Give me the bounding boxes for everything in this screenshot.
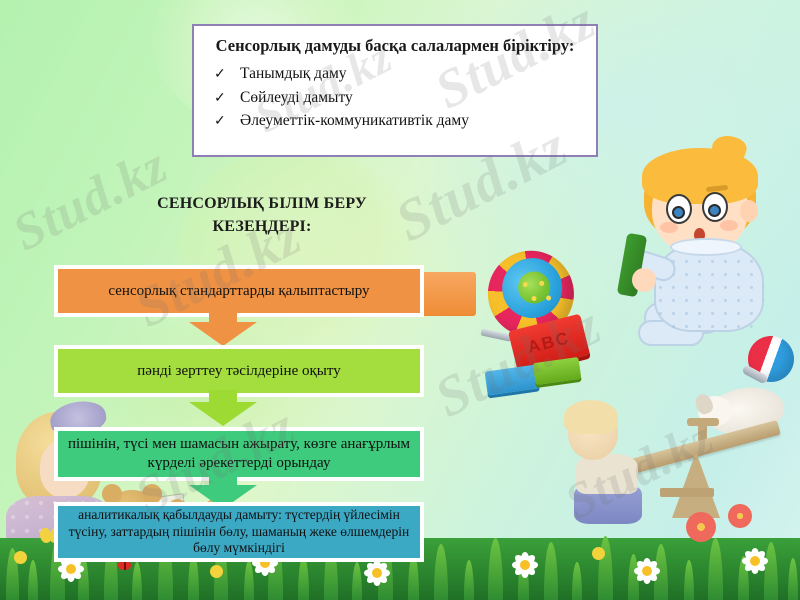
list-item: ✓ Танымдық даму (214, 62, 586, 86)
brick-letters: ABC (508, 314, 590, 373)
list-item: ✓ Сөйлеуді дамыту (214, 86, 586, 110)
red-abc-brick-icon: ABC (508, 314, 590, 373)
daisy-icon (742, 548, 768, 574)
header-bullet-list: ✓ Танымдық даму ✓ Сөйлеуді дамыту ✓ Әлеу… (204, 62, 586, 133)
list-item-label: Танымдық даму (240, 62, 347, 86)
daisy-icon (512, 552, 538, 578)
slide-canvas: ABC (0, 0, 800, 600)
yellow-flower-icon (210, 565, 223, 578)
check-icon: ✓ (214, 111, 228, 132)
list-item-label: Әлеуметтік-коммуникативтік даму (240, 109, 469, 133)
check-icon: ✓ (214, 64, 228, 85)
daisy-icon (634, 558, 660, 584)
list-item: ✓ Әлеуметтік-коммуникативтік даму (214, 109, 586, 133)
flow-arrow-2-icon (189, 390, 257, 424)
child-on-seesaw-illustration (556, 392, 800, 572)
blue-brick-icon (485, 364, 540, 395)
yellow-flower-icon (592, 547, 605, 560)
pink-flower-icon (728, 504, 752, 528)
yellow-flower-icon (14, 551, 27, 564)
rattle-ball-icon (742, 336, 800, 390)
check-icon: ✓ (214, 88, 228, 109)
daisy-icon (364, 560, 390, 586)
pink-flower-icon (686, 512, 716, 542)
watermark-text: Stud.kz (425, 293, 611, 430)
cartoon-baby-illustration (608, 142, 794, 348)
flow-step-4: аналитикалық қабылдауды дамыту: түстерді… (54, 502, 424, 562)
green-brick-icon (533, 357, 582, 385)
header-title: Сенсорлық дамуды басқа салалармен бірікт… (204, 35, 586, 56)
watermark-text: Stud.kz (555, 407, 723, 531)
flow-arrow-1-icon (189, 310, 257, 344)
header-callout-box: Сенсорлық дамуды басқа салалармен бірікт… (192, 24, 598, 157)
spinning-top-toy-icon (454, 230, 602, 372)
section-heading: СЕНСОРЛЫҚ БІЛІМ БЕРУ КЕЗЕҢДЕРІ: (112, 192, 412, 238)
orange-brick-icon (418, 272, 476, 316)
list-item-label: Сөйлеуді дамыту (240, 86, 353, 110)
